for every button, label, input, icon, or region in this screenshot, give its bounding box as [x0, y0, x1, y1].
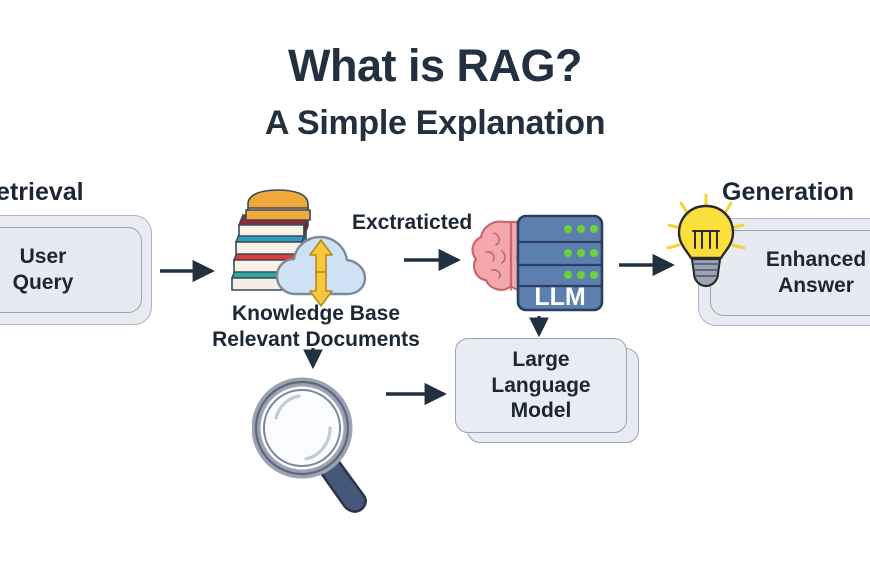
enhanced-answer-label: Enhanced Answer [766, 247, 866, 298]
diagram-canvas: What is RAG? A Simple Explanation Retrie… [0, 0, 870, 570]
large-language-model-label: Large Language Model [491, 347, 590, 424]
lightbulb-icon [664, 193, 748, 289]
page-title: What is RAG? [0, 40, 870, 92]
large-language-model-card[interactable]: Large Language Model [455, 338, 627, 433]
user-query-label: User Query [13, 244, 74, 295]
extracted-label: Exctraticted [352, 211, 472, 235]
llm-server-graphic: LLM [468, 206, 608, 316]
knowledge-base-caption: Knowledge Base Relevant Documents [196, 301, 436, 354]
llm-server-label: LLM [534, 283, 585, 311]
user-query-box[interactable]: User Query [0, 227, 142, 313]
large-language-model-card-stack: Large Language Model [455, 338, 640, 443]
page-subtitle: A Simple Explanation [0, 104, 870, 143]
section-heading-retrieval: Retrieval [0, 178, 84, 207]
magnifying-glass-icon [252, 366, 374, 514]
